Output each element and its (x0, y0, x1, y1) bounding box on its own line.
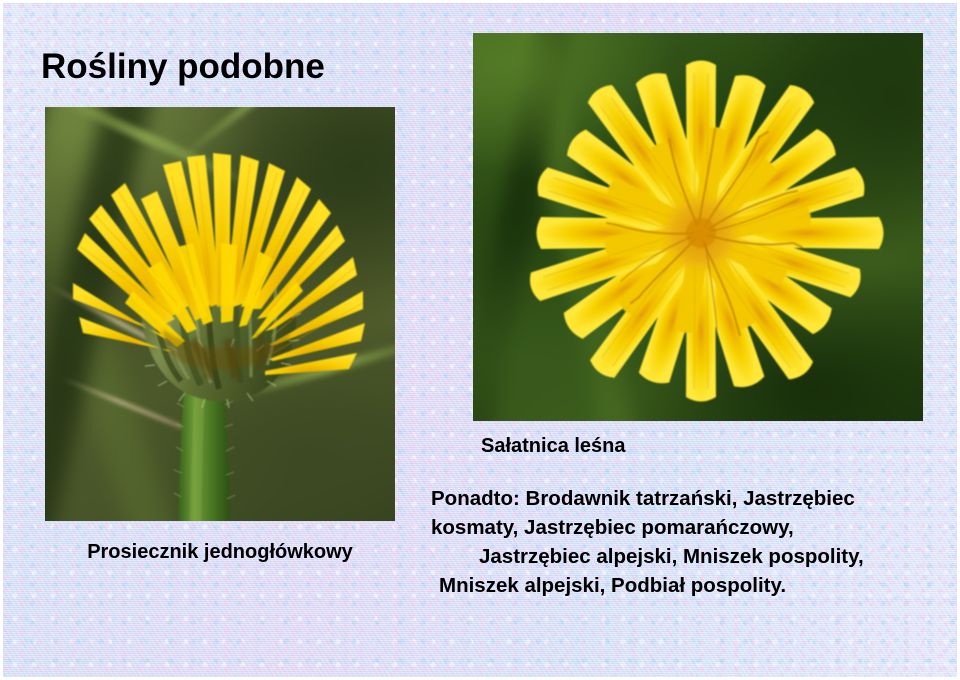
prosiecznik-flower-photo (45, 107, 395, 521)
list-line-3: Jastrzębiec alpejski, Mniszek pospolity, (427, 542, 927, 571)
caption-right: Sałatnica leśna (481, 435, 626, 458)
slide: Rośliny podobne (0, 0, 960, 680)
caption-left: Prosiecznik jednogłówkowy (45, 541, 395, 564)
list-line-4: Mniszek alpejski, Podbiał pospolity. (427, 571, 927, 600)
similar-plants-list: Ponadto: Brodawnik tatrzański, Jastrzębi… (427, 484, 927, 600)
list-line-1: Ponadto: Brodawnik tatrzański, Jastrzębi… (427, 484, 927, 513)
prosiecznik-flower-graphic (45, 107, 395, 521)
salatnica-flower-photo (473, 33, 923, 421)
salatnica-flower-graphic (473, 33, 923, 421)
list-line-1-rest: Brodawnik tatrzański, Jastrzębiec (520, 487, 855, 510)
list-lead-label: Ponadto (431, 487, 513, 510)
page-title: Rośliny podobne (41, 47, 325, 87)
list-lead-separator: : (513, 487, 520, 510)
list-line-2: kosmaty, Jastrzębiec pomarańczowy, (427, 513, 927, 542)
